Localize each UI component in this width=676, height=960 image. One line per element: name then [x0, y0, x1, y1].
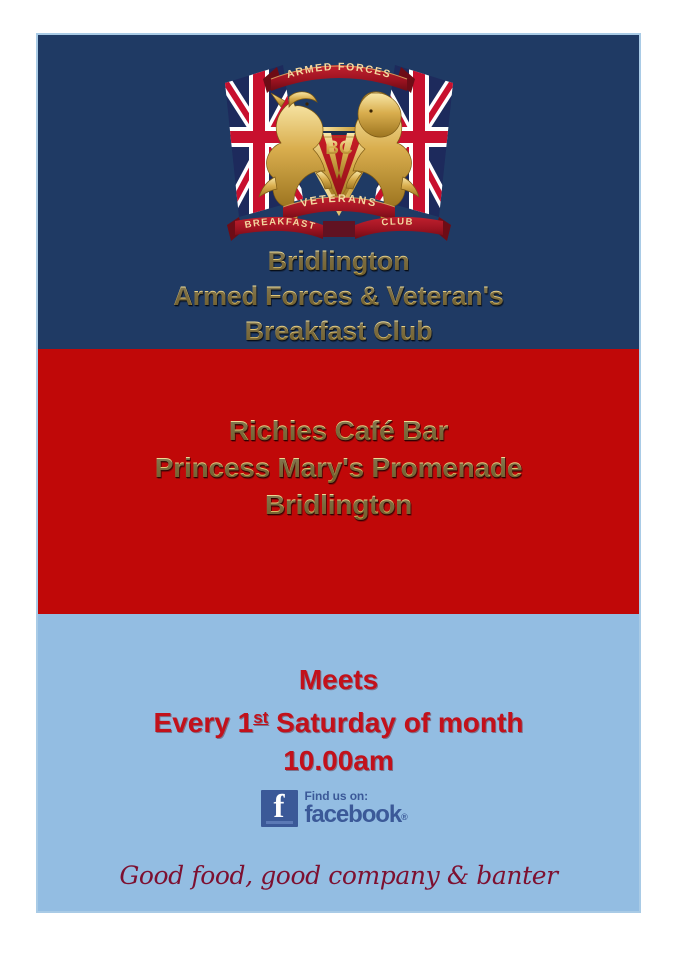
lion-eye	[369, 109, 372, 112]
crest-monogram: BC	[325, 138, 353, 159]
poster: BC	[36, 33, 641, 913]
meets-schedule-suffix: Saturday of month	[268, 707, 523, 738]
meets-schedule: Every 1st Saturday of month	[38, 699, 639, 742]
crest-bottom-banner: BREAKFAST CLUB	[227, 216, 451, 241]
title-line-1: Bridlington	[38, 244, 639, 279]
registered-mark: ®	[401, 812, 408, 822]
light-blue-panel: Meets Every 1st Saturday of month 10.00a…	[38, 614, 639, 911]
venue-town: Bridlington	[38, 486, 639, 523]
title-line-2: Armed Forces & Veteran's	[38, 279, 639, 314]
venue-block: Richies Café Bar Princess Mary's Promena…	[38, 412, 639, 523]
facebook-icon[interactable]: f	[261, 790, 298, 827]
facebook-f-letter: f	[261, 791, 298, 824]
facebook-label: Find us on: facebook®	[305, 790, 408, 827]
meets-schedule-ordinal: st	[253, 708, 268, 727]
title-line-3: Breakfast Club	[38, 314, 639, 349]
tagline: Good food, good company & banter	[38, 861, 639, 890]
club-crest: BC	[219, 49, 459, 249]
meets-time: 10.00am	[38, 742, 639, 780]
svg-text:CLUB: CLUB	[380, 216, 413, 228]
facebook-wordmark: facebook®	[305, 803, 408, 827]
poster-title: Bridlington Armed Forces & Veteran's Bre…	[38, 244, 639, 349]
unicorn-eye	[305, 102, 308, 105]
meets-heading: Meets	[38, 661, 639, 699]
facebook-wordmark-text: facebook	[305, 801, 402, 828]
facebook-icon-base	[266, 821, 293, 824]
red-panel: Richies Café Bar Princess Mary's Promena…	[38, 349, 639, 614]
meets-schedule-prefix: Every 1	[154, 707, 254, 738]
crest-bottom-banner-right-text: CLUB	[380, 216, 413, 228]
facebook-badge[interactable]: f Find us on: facebook®	[261, 786, 417, 830]
meeting-details: Meets Every 1st Saturday of month 10.00a…	[38, 661, 639, 780]
venue-street: Princess Mary's Promenade	[38, 449, 639, 486]
venue-name: Richies Café Bar	[38, 412, 639, 449]
navy-panel: BC	[38, 35, 639, 349]
